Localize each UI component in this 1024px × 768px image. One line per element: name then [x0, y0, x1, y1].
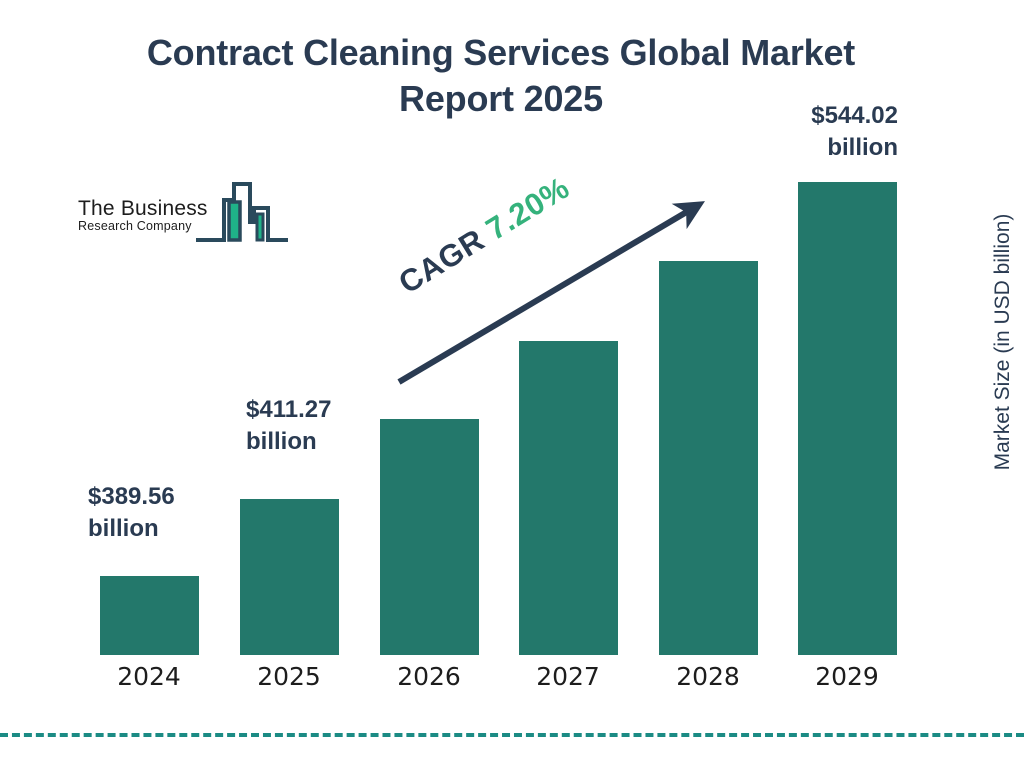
bar-2029 [798, 182, 897, 655]
value-label-2029-amount: $544.02 [786, 100, 898, 132]
x-tick-2029: 2029 [777, 662, 917, 691]
logo-text: The Business Research Company [78, 198, 203, 233]
page-title: Contract Cleaning Services Global Market… [96, 30, 906, 122]
x-tick-2028: 2028 [638, 662, 778, 691]
y-axis-title: Market Size (in USD billion) [991, 192, 1015, 492]
value-label-2024-amount: $389.56 [88, 481, 175, 513]
bar-2026 [380, 419, 479, 655]
value-label-2024: $389.56 billion [88, 481, 175, 544]
x-tick-2024: 2024 [79, 662, 219, 691]
logo-line-1: The Business [78, 198, 203, 219]
bar-2025 [240, 499, 339, 655]
bar-chart-logo-icon [194, 178, 290, 250]
bar-2024 [100, 576, 199, 655]
value-label-2025: $411.27 billion [246, 394, 331, 457]
logo-line-2: Research Company [78, 220, 203, 233]
value-label-2029: $544.02 billion [786, 100, 898, 163]
value-label-2025-unit: billion [246, 426, 331, 458]
x-tick-2025: 2025 [219, 662, 359, 691]
cagr-growth-arrow-icon [380, 185, 720, 400]
value-label-2025-amount: $411.27 [246, 394, 331, 426]
x-tick-2026: 2026 [359, 662, 499, 691]
company-logo: The Business Research Company [78, 188, 288, 258]
chart-page: Contract Cleaning Services Global Market… [0, 0, 1024, 768]
value-label-2029-unit: billion [786, 132, 898, 164]
x-tick-2027: 2027 [498, 662, 638, 691]
value-label-2024-unit: billion [88, 513, 175, 545]
footer-divider [0, 733, 1024, 737]
